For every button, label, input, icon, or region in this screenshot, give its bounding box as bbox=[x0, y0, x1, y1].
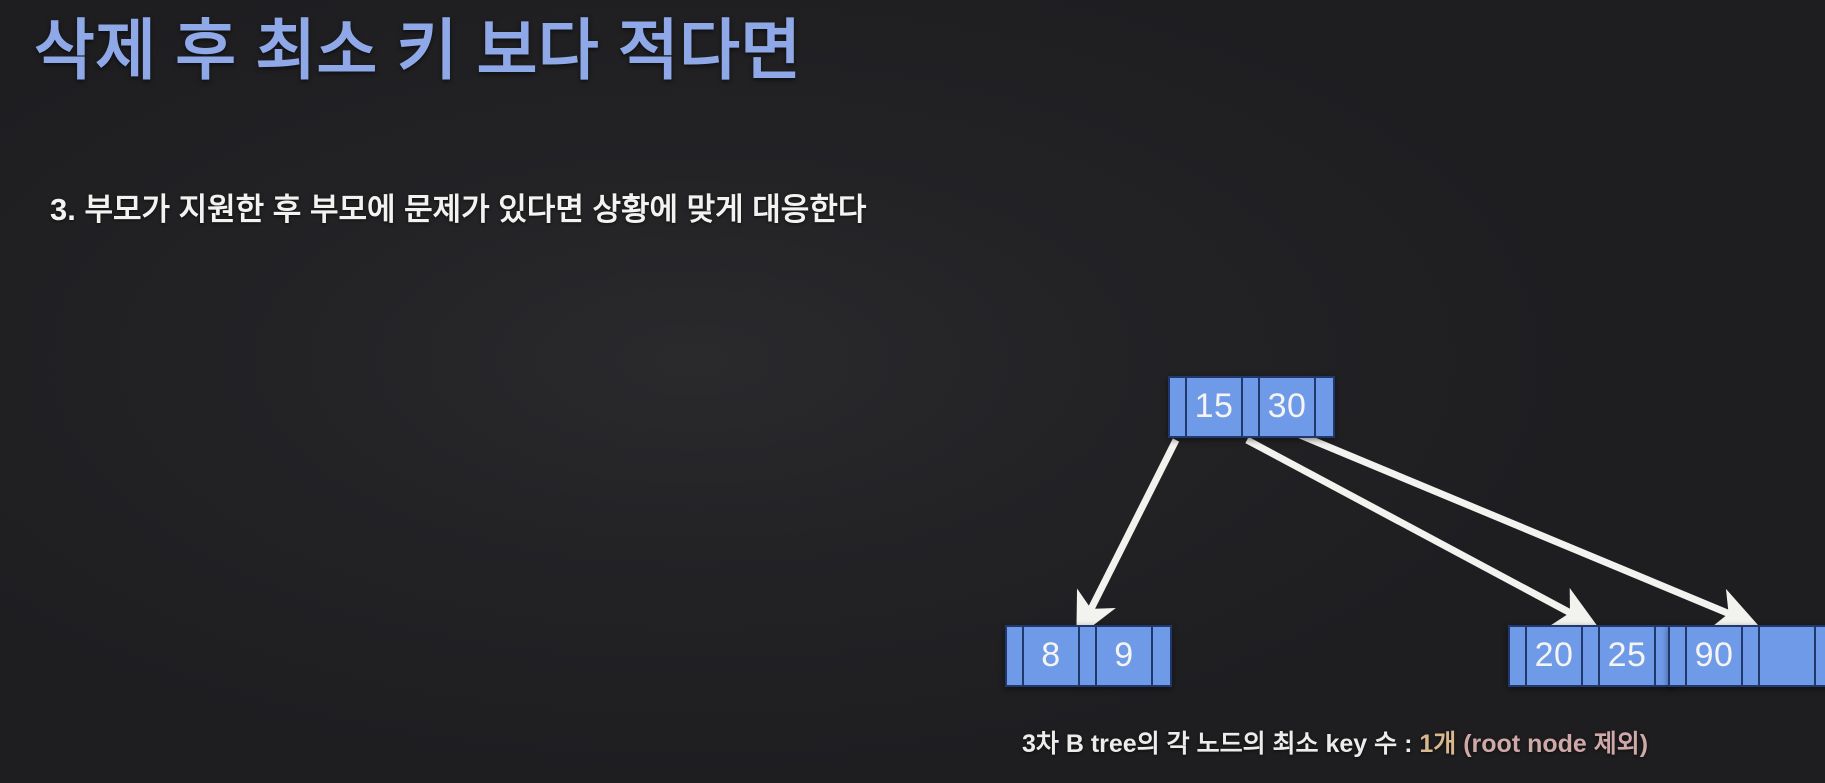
leaf-middle-key-0: 20 bbox=[1527, 627, 1583, 685]
edge-root-to-left-leaf bbox=[1087, 440, 1176, 617]
caption-lead-text: 3차 B tree의 각 노드의 최소 key 수 : bbox=[1022, 730, 1419, 758]
root-pointer-1 bbox=[1243, 378, 1260, 436]
caption-min-key-count: 1개 bbox=[1419, 730, 1456, 758]
leaf-middle-key-1: 25 bbox=[1600, 627, 1656, 685]
leaf-right-pointer-0 bbox=[1670, 627, 1687, 685]
diagram-caption: 3차 B tree의 각 노드의 최소 key 수 : 1개 (root nod… bbox=[1022, 724, 1648, 760]
root-pointer-0 bbox=[1170, 378, 1187, 436]
leaf-left-key-0: 8 bbox=[1024, 627, 1080, 685]
leaf-left-pointer-1 bbox=[1080, 627, 1097, 685]
leaf-right-key-empty bbox=[1760, 627, 1816, 685]
tree-edges bbox=[0, 0, 1825, 783]
page-title: 삭제 후 최소 키 보다 적다면 bbox=[34, 16, 802, 85]
leaf-right-key-0: 90 bbox=[1687, 627, 1743, 685]
b-tree-diagram: 15 30 8 9 20 25 90 bbox=[0, 0, 1825, 783]
tree-node-root[interactable]: 15 30 bbox=[1168, 376, 1335, 438]
subtitle-bullet: 3. 부모가 지원한 후 부모에 문제가 있다면 상황에 맞게 대응한다 bbox=[50, 184, 866, 229]
slide-canvas: 삭제 후 최소 키 보다 적다면 3. 부모가 지원한 후 부모에 문제가 있다… bbox=[0, 0, 1825, 783]
leaf-right-pointer-1 bbox=[1743, 627, 1760, 685]
leaf-middle-pointer-0 bbox=[1510, 627, 1527, 685]
leaf-middle-pointer-2 bbox=[1656, 627, 1673, 685]
root-pointer-2 bbox=[1316, 378, 1333, 436]
tree-node-leaf-left[interactable]: 8 9 bbox=[1005, 625, 1172, 687]
root-key-0: 15 bbox=[1187, 378, 1243, 436]
leaf-right-pointer-2 bbox=[1816, 627, 1825, 685]
root-key-1: 30 bbox=[1260, 378, 1316, 436]
leaf-left-pointer-2 bbox=[1153, 627, 1170, 685]
tree-node-leaf-middle[interactable]: 20 25 bbox=[1508, 625, 1675, 687]
leaf-left-key-1: 9 bbox=[1097, 627, 1153, 685]
leaf-middle-pointer-1 bbox=[1583, 627, 1600, 685]
caption-note: (root node 제외) bbox=[1456, 730, 1648, 758]
leaf-left-pointer-0 bbox=[1007, 627, 1024, 685]
edge-root-to-right-leaf bbox=[1300, 435, 1737, 617]
tree-node-leaf-right[interactable]: 90 bbox=[1668, 625, 1825, 687]
edge-root-to-middle-leaf bbox=[1247, 440, 1578, 617]
